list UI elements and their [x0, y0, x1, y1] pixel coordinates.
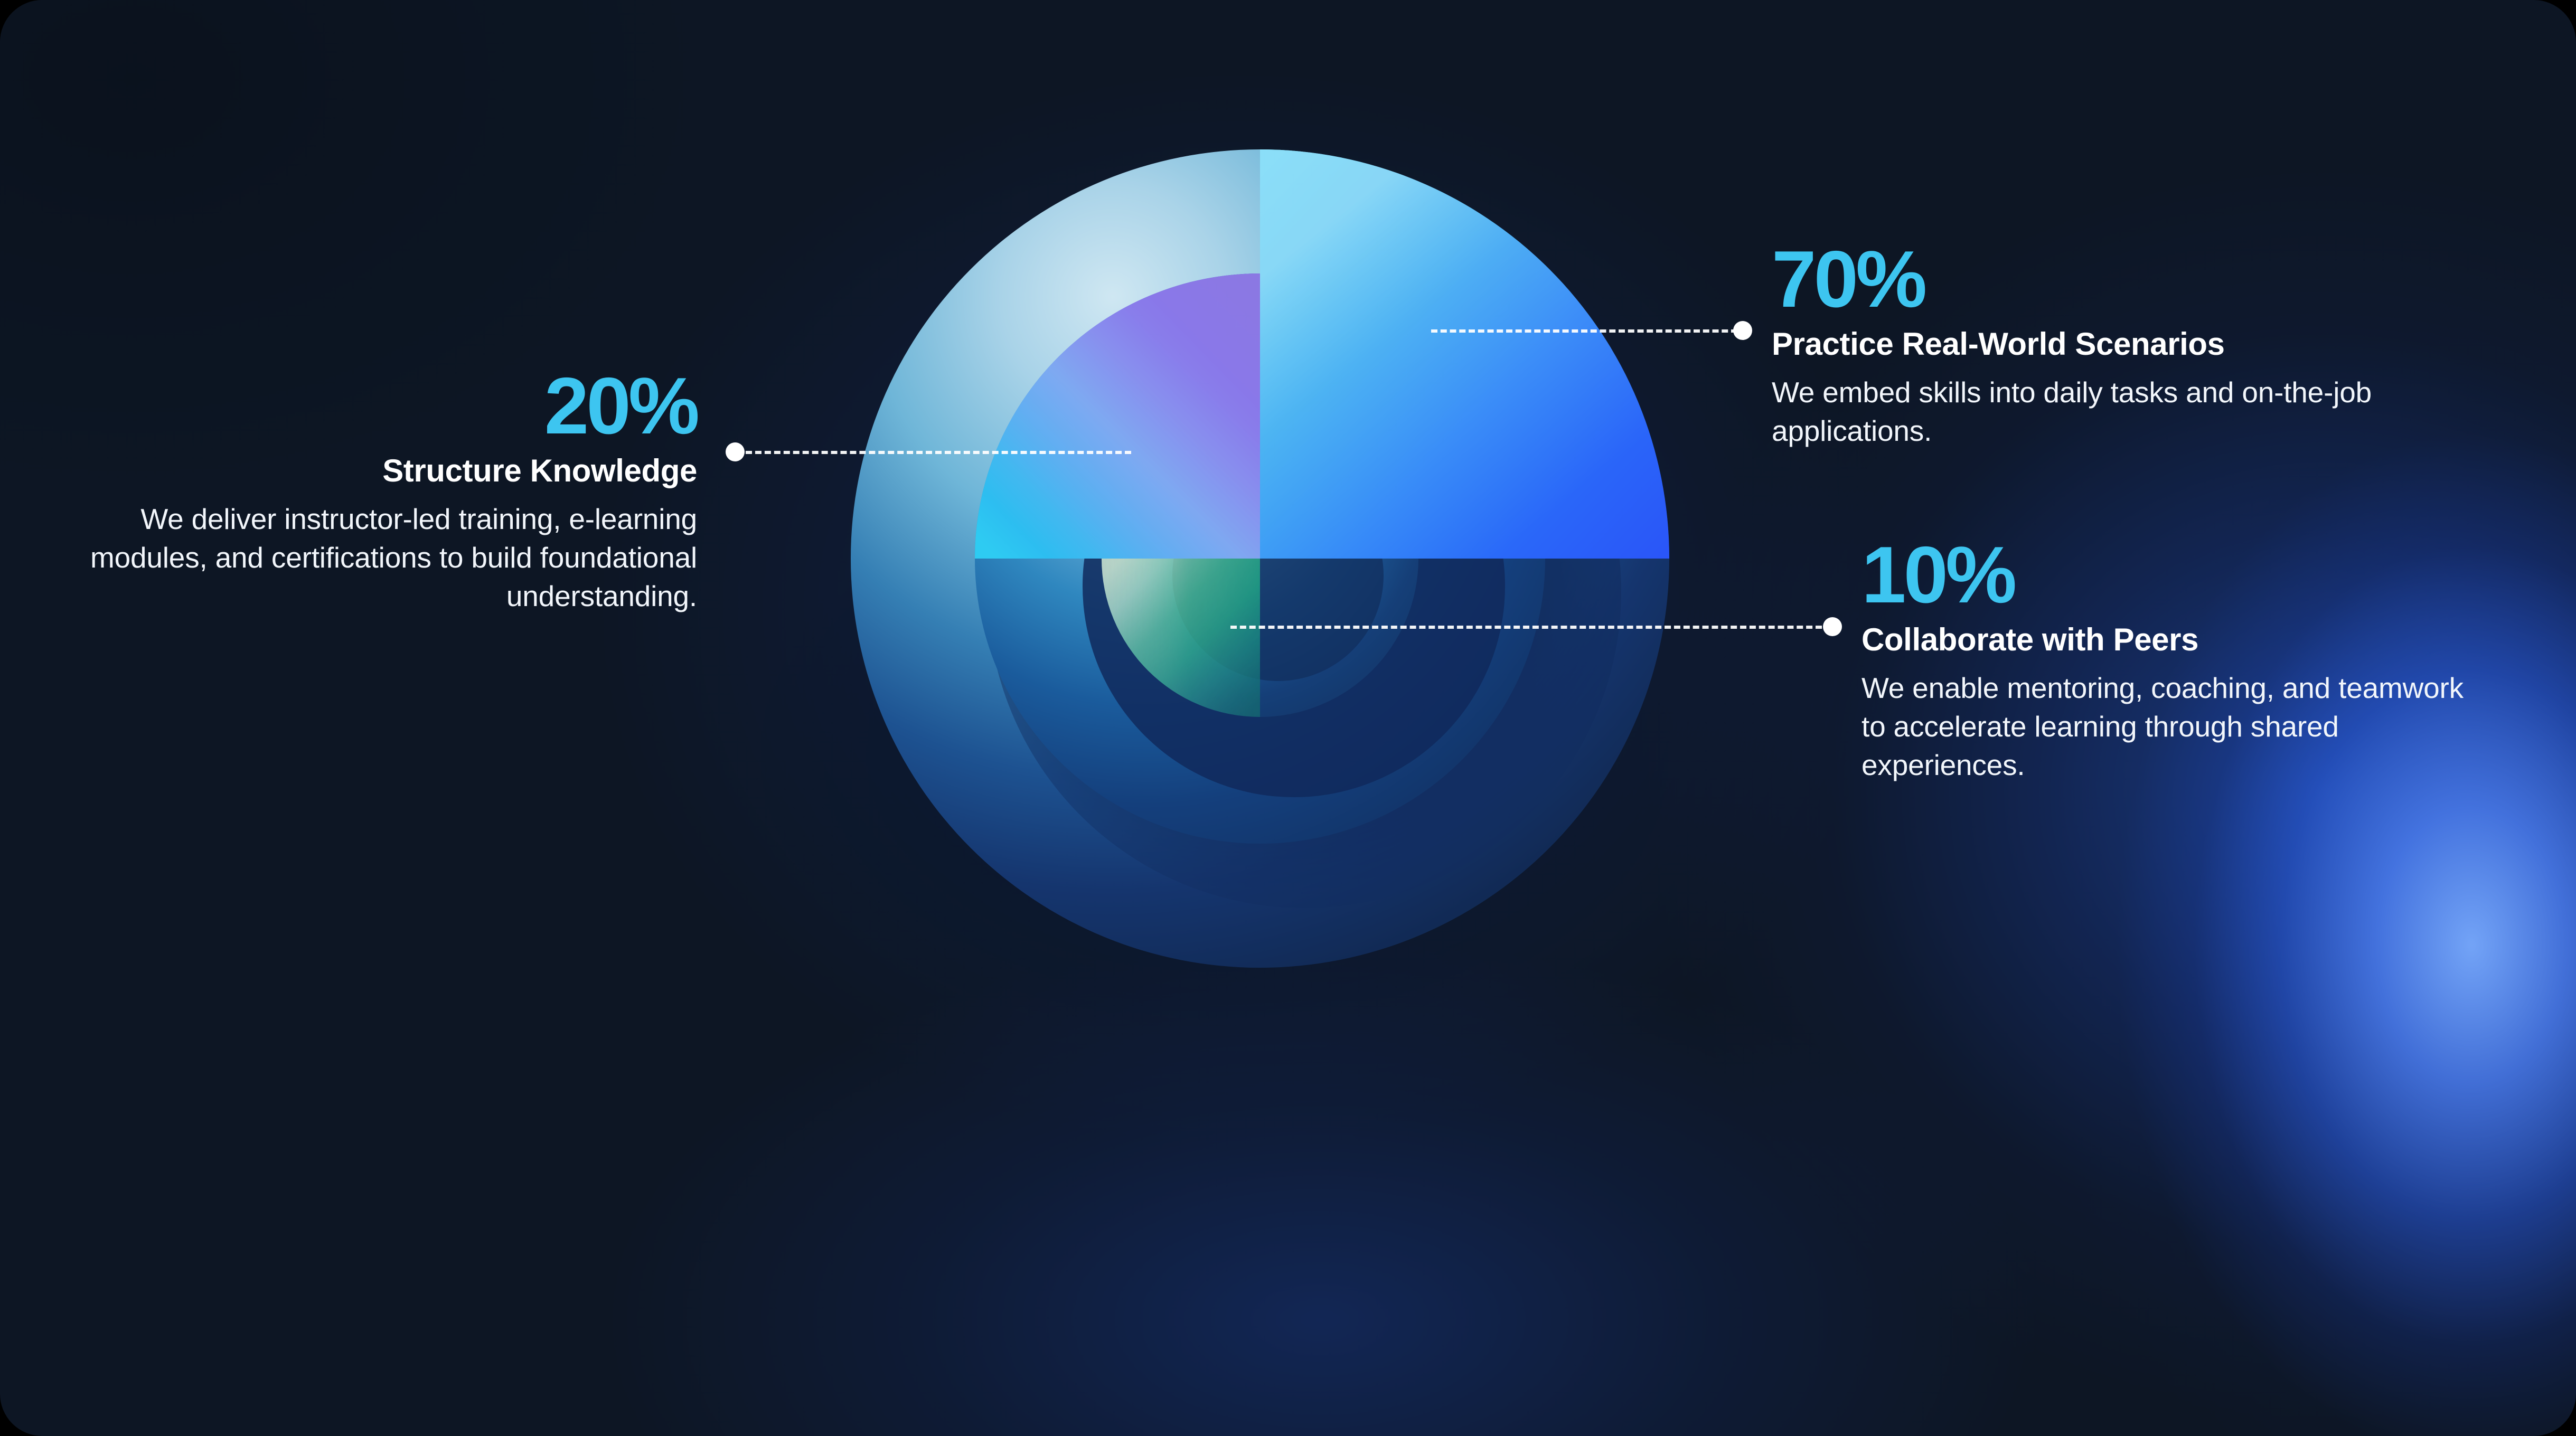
connector-dot-10	[1823, 617, 1842, 636]
segment-70-rim-highlight	[1260, 149, 1669, 559]
connector-line-70	[1431, 329, 1737, 333]
callout-body-10: We enable mentoring, coaching, and teamw…	[1862, 669, 2495, 785]
callout-heading-10: Collaborate with Peers	[1862, 622, 2495, 657]
callout-heading-20: Structure Knowledge	[63, 453, 697, 488]
segment-practice-real-world-scenarios[interactable]	[1260, 149, 1669, 559]
callout-practice-real-world-scenarios[interactable]: 70% Practice Real-World Scenarios We emb…	[1772, 243, 2405, 450]
connector-line-10	[1230, 626, 1822, 629]
callout-percent-10: 10%	[1862, 538, 2495, 612]
callout-structure-knowledge[interactable]: 20% Structure Knowledge We deliver instr…	[63, 370, 697, 616]
callout-body-20: We deliver instructor-led training, e-le…	[63, 500, 697, 616]
connector-dot-20	[726, 442, 745, 461]
callout-percent-20: 20%	[63, 370, 697, 443]
connector-dot-70	[1733, 321, 1752, 340]
callout-body-70: We embed skills into daily tasks and on-…	[1772, 373, 2405, 450]
infographic-canvas: 20% Structure Knowledge We deliver instr…	[0, 0, 2576, 1436]
callout-heading-70: Practice Real-World Scenarios	[1772, 326, 2405, 362]
callout-collaborate-with-peers[interactable]: 10% Collaborate with Peers We enable men…	[1862, 538, 2495, 785]
connector-line-20	[746, 451, 1131, 454]
callout-percent-70: 70%	[1772, 243, 2405, 317]
